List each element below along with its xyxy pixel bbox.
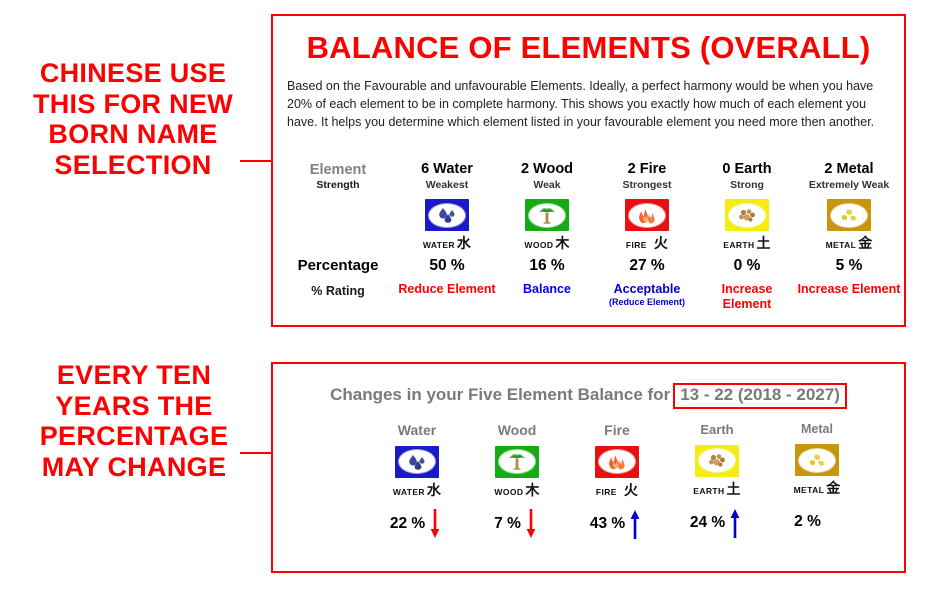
earth-caption-latin: EARTH [693, 486, 724, 496]
fire-icon [625, 199, 669, 231]
annotation-bottom-connector-line [240, 452, 272, 454]
wood-caption-latin: WOOD [524, 240, 553, 250]
gold-nuggets-glyph [803, 451, 831, 470]
metal-icon-caption: METAL金 [826, 233, 873, 253]
five-element-changes-panel: Changes in your Five Element Balance for… [271, 362, 906, 573]
metal-rating: Increase Element [797, 275, 901, 297]
metal-icon-oval [831, 204, 867, 227]
page-title: BALANCE OF ELEMENTS (OVERALL) [273, 30, 904, 66]
changes-column-wood: Wood WOOD木 7 % [467, 422, 567, 541]
column-header-earth: 0 Earth Strong EARTH土 [697, 160, 797, 253]
wood-icon-oval [499, 450, 535, 473]
stones-glyph [733, 206, 761, 225]
earth-caption-han: 土 [727, 481, 741, 497]
changes-fire-icon-group: FIRE火 [567, 446, 667, 500]
earth-icon [725, 199, 769, 231]
water-drops-glyph [404, 453, 430, 471]
changes-fire-percentage: 43 % [590, 515, 625, 533]
changes-column-earth: Earth EARTH土 [667, 422, 767, 540]
metal-icon-caption: METAL金 [794, 478, 841, 498]
earth-icon-oval [729, 204, 765, 227]
fire-strength-label: Strongest [597, 178, 697, 192]
earth-icon-group: EARTH土 [697, 199, 797, 253]
gold-nuggets-glyph [835, 206, 863, 225]
earth-icon [695, 445, 739, 477]
changes-wood-label: Wood [467, 422, 567, 439]
annotation-top-text: CHINESE USE THIS FOR NEW BORN NAME SELEC… [8, 58, 258, 180]
fire-caption-latin: FIRE [626, 240, 647, 250]
earth-icon-caption: EARTH土 [723, 233, 770, 253]
earth-count-label: 0 Earth [697, 160, 797, 178]
changes-water-percentage: 22 % [390, 515, 425, 533]
water-rating-text: Reduce Element [398, 282, 495, 296]
changes-earth-label: Earth [667, 422, 767, 438]
earth-percentage: 0 % [697, 253, 797, 275]
changes-earth-value-row: 24 % [667, 506, 767, 540]
changes-wood-value-row: 7 % [467, 507, 567, 541]
changes-metal-label: Metal [767, 422, 867, 437]
metal-icon-oval [799, 449, 835, 472]
water-icon-oval [429, 204, 465, 227]
tree-glyph [533, 206, 561, 225]
metal-count-label: 2 Metal [797, 160, 901, 178]
row-label-rating: % Rating [279, 275, 397, 298]
wood-icon [495, 446, 539, 478]
wood-icon-oval [529, 204, 565, 227]
fire-icon-caption: FIRE火 [596, 480, 638, 500]
wood-caption-han: 木 [555, 235, 569, 251]
wood-caption-han: 木 [525, 482, 539, 498]
fire-percentage: 27 % [597, 253, 697, 275]
water-icon-group: WATER水 [397, 199, 497, 253]
water-icon [395, 446, 439, 478]
changes-fire-label: Fire [567, 422, 667, 439]
metal-caption-latin: METAL [794, 485, 825, 495]
fire-icon-caption: FIRE火 [626, 233, 668, 253]
metal-rating-text: Increase Element [798, 282, 901, 296]
changes-table: Water WATER水 22 % [367, 422, 867, 541]
fire-caption-latin: FIRE [596, 487, 617, 497]
flames-glyph [633, 206, 661, 225]
fire-rating-text: Acceptable [614, 282, 681, 296]
row-label-percentage: Percentage [279, 253, 397, 274]
wood-percentage: 16 % [497, 253, 597, 275]
changes-wood-percentage: 7 % [494, 515, 521, 533]
water-rating: Reduce Element [397, 275, 497, 297]
flames-glyph [603, 452, 631, 471]
earth-caption-han: 土 [757, 235, 771, 251]
metal-strength-label: Extremely Weak [797, 178, 901, 192]
wood-strength-label: Weak [497, 178, 597, 192]
earth-icon-oval [699, 449, 735, 472]
stones-glyph [703, 451, 731, 470]
metal-percentage: 5 % [797, 253, 901, 275]
metal-icon [795, 444, 839, 476]
wood-rating-text: Balance [523, 282, 571, 296]
wood-icon-caption: WOOD木 [494, 480, 539, 500]
water-count-label: 6 Water [397, 160, 497, 178]
changes-metal-value-row: 2 % [767, 505, 867, 539]
row-label-element-text: Element [279, 160, 397, 179]
elements-table: Element Strength 6 Water Weakest WATER水 [279, 160, 901, 312]
metal-caption-han: 金 [858, 235, 872, 251]
water-icon-caption: WATER水 [423, 233, 471, 253]
changes-column-metal: Metal METAL金 2 % [767, 422, 867, 539]
fire-icon-oval [629, 204, 665, 227]
changes-earth-icon-group: EARTH土 [667, 445, 767, 499]
fire-rating: Acceptable (Reduce Element) [597, 275, 697, 307]
fire-rating-note: (Reduce Element) [597, 297, 697, 308]
water-percentage: 50 % [397, 253, 497, 275]
period-highlight-box[interactable]: 13 - 22 (2018 - 2027) [673, 383, 847, 409]
fire-icon-group: FIRE火 [597, 199, 697, 253]
water-caption-han: 水 [457, 235, 471, 251]
water-caption-latin: WATER [423, 240, 455, 250]
changes-column-water: Water WATER水 22 % [367, 422, 467, 541]
annotation-top-connector-line [240, 160, 272, 162]
column-header-wood: 2 Wood Weak WOOD木 [497, 160, 597, 253]
column-header-fire: 2 Fire Strongest FIRE火 [597, 160, 697, 253]
trend-up-arrow-icon [626, 507, 644, 541]
changes-water-icon-group: WATER水 [367, 446, 467, 500]
water-drops-glyph [434, 206, 460, 224]
metal-icon-group: METAL金 [797, 199, 901, 253]
fire-caption-han: 火 [624, 482, 638, 498]
wood-icon [525, 199, 569, 231]
fire-icon [595, 446, 639, 478]
column-header-water: 6 Water Weakest WATER水 [397, 160, 497, 253]
fire-icon-oval [599, 450, 635, 473]
water-caption-han: 水 [427, 482, 441, 498]
water-icon-caption: WATER水 [393, 480, 441, 500]
wood-icon-group: WOOD木 [497, 199, 597, 253]
changes-column-fire: Fire FIRE火 43 % [567, 422, 667, 541]
earth-rating: Increase Element [697, 275, 797, 312]
description-text: Based on the Favourable and unfavourable… [287, 78, 887, 131]
row-label-strength-text: Strength [279, 179, 397, 193]
metal-caption-latin: METAL [826, 240, 857, 250]
earth-strength-label: Strong [697, 178, 797, 192]
wood-count-label: 2 Wood [497, 160, 597, 178]
changes-metal-icon-group: METAL金 [767, 444, 867, 498]
wood-caption-latin: WOOD [494, 487, 523, 497]
water-icon-oval [399, 450, 435, 473]
water-caption-latin: WATER [393, 487, 425, 497]
earth-rating-text: Increase Element [722, 282, 773, 311]
wood-icon-caption: WOOD木 [524, 233, 569, 253]
water-icon [425, 199, 469, 231]
balance-of-elements-panel: BALANCE OF ELEMENTS (OVERALL) Based on t… [271, 14, 906, 327]
earth-icon-caption: EARTH土 [693, 479, 740, 499]
earth-caption-latin: EARTH [723, 240, 754, 250]
metal-caption-han: 金 [826, 480, 840, 496]
changes-fire-value-row: 43 % [567, 507, 667, 541]
fire-caption-han: 火 [654, 235, 668, 251]
water-strength-label: Weakest [397, 178, 497, 192]
changes-heading: Changes in your Five Element Balance for… [273, 383, 904, 409]
trend-down-arrow-icon [426, 507, 444, 541]
changes-earth-percentage: 24 % [690, 514, 725, 532]
changes-metal-percentage: 2 % [794, 513, 821, 531]
wood-rating: Balance [497, 275, 597, 297]
changes-wood-icon-group: WOOD木 [467, 446, 567, 500]
changes-water-value-row: 22 % [367, 507, 467, 541]
changes-heading-prefix: Changes in your Five Element Balance for [330, 385, 670, 404]
changes-water-label: Water [367, 422, 467, 439]
trend-up-arrow-icon [726, 506, 744, 540]
column-header-metal: 2 Metal Extremely Weak METAL金 [797, 160, 901, 253]
fire-count-label: 2 Fire [597, 160, 697, 178]
annotation-bottom-text: EVERY TEN YEARS THE PERCENTAGE MAY CHANG… [8, 360, 260, 482]
trend-down-arrow-icon [522, 507, 540, 541]
row-label-element: Element Strength [279, 160, 397, 193]
metal-icon [827, 199, 871, 231]
tree-glyph [503, 452, 531, 471]
